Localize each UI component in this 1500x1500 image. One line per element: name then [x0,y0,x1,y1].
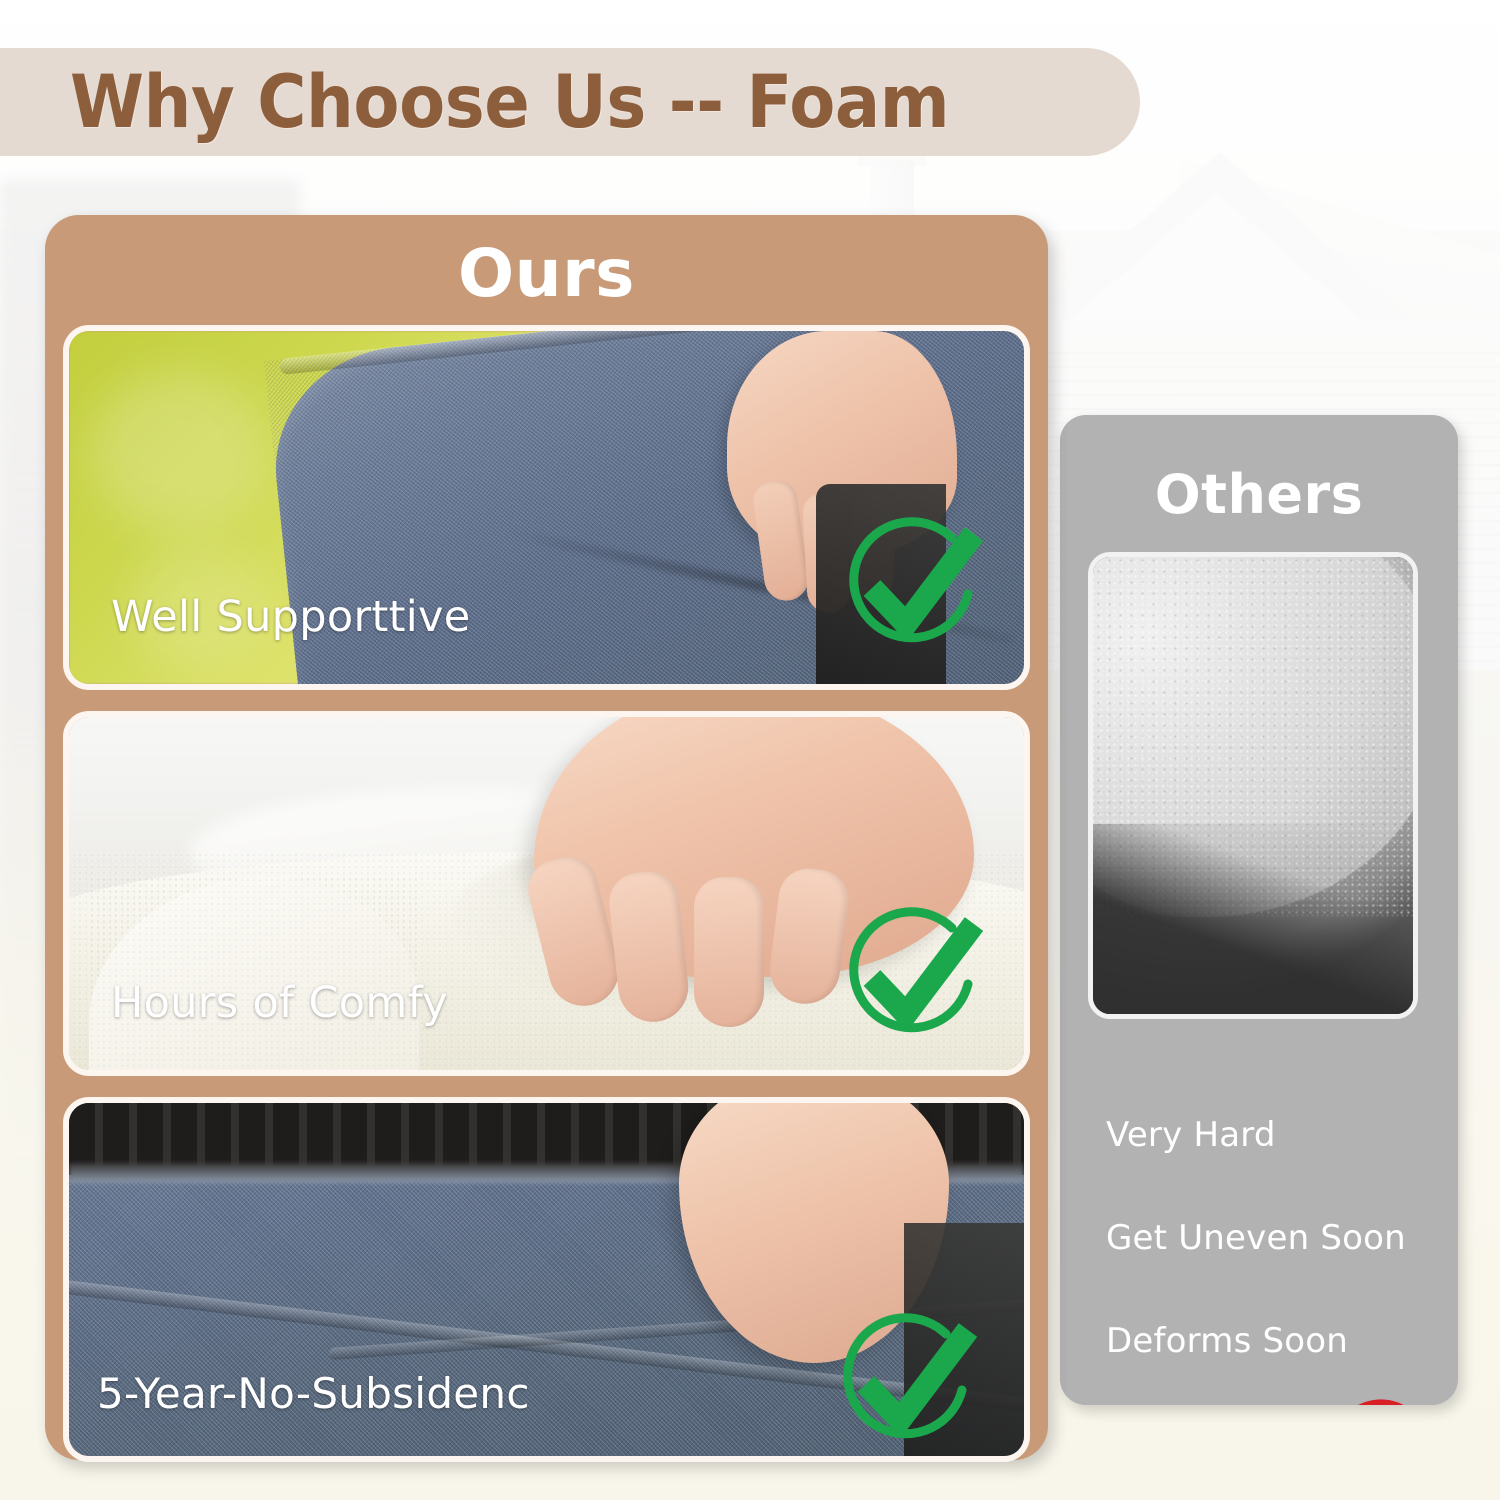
page-title: Why Choose Us -- Foam [70,60,949,145]
ours-card: Well Supporttive [63,325,1030,690]
ours-card-caption: Well Supporttive [111,592,471,642]
photo2-finger [694,877,764,1027]
check-circle-icon [840,516,990,666]
others-bullet-list: Very Hard Get Uneven Soon Deforms Soon [1106,1115,1446,1405]
photo1-bokeh-blob [89,371,269,531]
ours-heading: Ours [45,235,1048,312]
ours-card: 5-Year-No-Subsidenc [63,1097,1030,1462]
others-heading: Others [1060,463,1458,526]
others-bullet-item: Deforms Soon [1106,1321,1446,1361]
ours-panel: Ours Well Supporttive [45,215,1048,1460]
check-circle-icon [834,1312,984,1462]
ours-card: Hours of Comfy [63,711,1030,1076]
others-bullet-item: Get Uneven Soon [1106,1218,1446,1258]
others-bullet-item: Very Hard [1106,1115,1446,1155]
others-panel: Others Very Hard Get Uneven Soon Deforms… [1060,415,1458,1405]
photo2-foam-left-lobe [89,877,419,1076]
ours-card-caption: Hours of Comfy [111,978,448,1028]
photo2-foam-texture [89,877,419,1076]
check-circle-icon [840,906,990,1056]
ours-card-caption: 5-Year-No-Subsidenc [97,1369,530,1418]
others-photo-shadow [1093,824,1413,1014]
red-x-circle-icon [1322,1395,1442,1405]
title-banner: Why Choose Us -- Foam [0,48,1140,156]
others-photo [1088,552,1418,1019]
